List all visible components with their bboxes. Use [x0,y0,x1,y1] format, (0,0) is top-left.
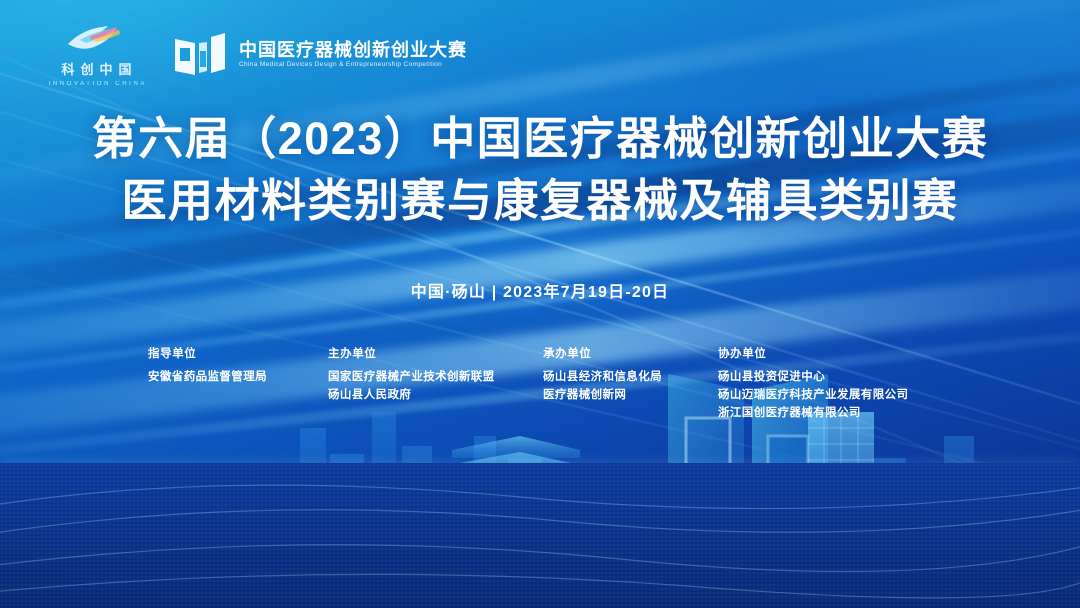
organizer-column-host: 主办单位 国家医疗器械产业技术创新联盟 砀山县人民政府 [328,345,543,422]
organizer-heading: 协办单位 [718,345,958,361]
competition-en-label: China Medical Devices Design & Entrepren… [239,62,467,69]
title-line-2: 医用材料类别赛与康复器械及辅具类别赛 [0,170,1080,232]
innovation-china-cn-label: 科创中国 [55,59,137,78]
organizer-item: 砀山迈瑞医疗科技产业发展有限公司 [718,386,958,404]
event-location-date: 中国·砀山 | 2023年7月19日-20日 [0,278,1080,302]
innovation-china-bird-icon [64,22,128,56]
organizer-column-coorganizer: 协办单位 砀山县投资促进中心 砀山迈瑞医疗科技产业发展有限公司 浙江国创医疗器械… [718,345,958,422]
organizer-column-undertaker: 承办单位 砀山县经济和信息化局 医疗器械创新网 [543,345,718,422]
organizer-heading: 指导单位 [148,345,328,361]
competition-cn-label: 中国医疗器械创新创业大赛 [239,41,467,59]
title-line-1: 第六届（2023）中国医疗器械创新创业大赛 [0,108,1080,170]
organizer-heading: 承办单位 [543,345,718,361]
organizer-heading: 主办单位 [328,345,543,361]
water-curve-lines [0,463,1080,608]
competition-logo[interactable]: 中国医疗器械创新创业大赛 China Medical Devices Desig… [173,31,467,79]
open-door-icon [173,31,227,79]
organizer-column-guidance: 指导单位 安徽省药品监督管理局 [148,345,328,422]
poster-canvas: 科创中国 INNOVATION CHINA 中国医疗器械创新创业大赛 China… [0,0,1080,608]
organizer-item: 砀山县人民政府 [328,386,543,404]
organizer-item: 医疗器械创新网 [543,386,718,404]
organizer-item: 砀山县经济和信息化局 [543,368,718,386]
innovation-china-logo[interactable]: 科创中国 INNOVATION CHINA [46,22,147,87]
organizer-item: 浙江国创医疗器械有限公司 [718,404,958,422]
organizer-item: 砀山县投资促进中心 [718,368,958,386]
header-logos: 科创中国 INNOVATION CHINA 中国医疗器械创新创业大赛 China… [46,22,467,87]
innovation-china-en-label: INNOVATION CHINA [46,81,147,87]
poster-title-block: 第六届（2023）中国医疗器械创新创业大赛 医用材料类别赛与康复器械及辅具类别赛 [0,108,1080,232]
organizer-columns: 指导单位 安徽省药品监督管理局 主办单位 国家医疗器械产业技术创新联盟 砀山县人… [148,345,980,422]
organizer-item: 安徽省药品监督管理局 [148,368,328,386]
organizer-item: 国家医疗器械产业技术创新联盟 [328,368,543,386]
